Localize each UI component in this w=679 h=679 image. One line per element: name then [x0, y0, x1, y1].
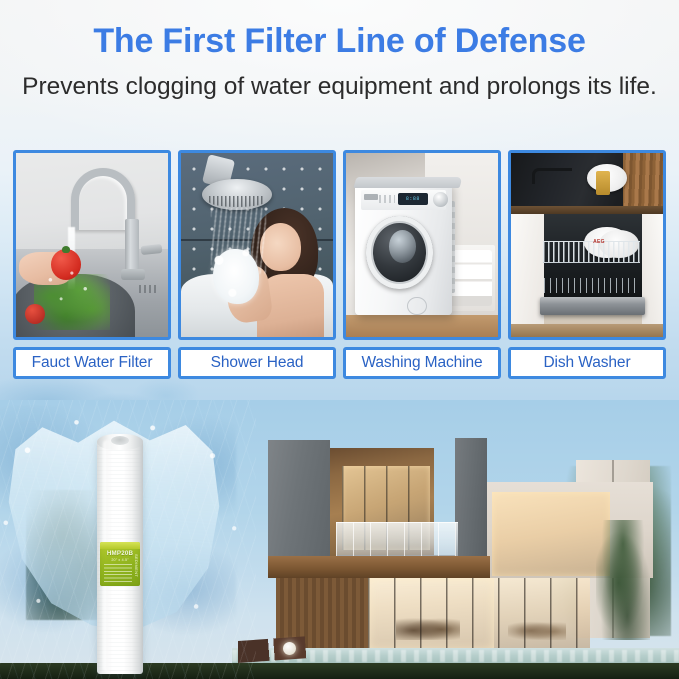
card-label-faucet: Fauct Water Filter: [13, 347, 171, 379]
page-subtitle: Prevents clogging of water equipment and…: [0, 72, 679, 102]
application-card-faucet[interactable]: Fauct Water Filter: [13, 150, 171, 386]
washing-machine-icon: 8:88: [346, 153, 498, 337]
card-label-dishwasher: Dish Washer: [508, 347, 666, 379]
application-card-dishwasher[interactable]: AEG Dish Washer: [508, 150, 666, 386]
hero-section: HMP20B 20" x 4.5" SEDIMENT: [0, 400, 679, 679]
washing-machine-photo: 8:88: [343, 150, 501, 340]
shower-photo: [178, 150, 336, 340]
application-card-washing-machine[interactable]: 8:88 Washing Machine: [343, 150, 501, 386]
dishwasher-brand-mark: AEG: [593, 239, 605, 245]
washer-display-text: 8:88: [406, 196, 420, 202]
application-card-shower[interactable]: Shower Head: [178, 150, 336, 386]
shower-head-icon: [181, 153, 333, 337]
page-title: The First Filter Line of Defense: [0, 22, 679, 61]
card-label-shower: Shower Head: [178, 347, 336, 379]
dishwasher-icon: AEG: [511, 153, 663, 337]
filter-cartridge-product: HMP20B 20" x 4.5" SEDIMENT: [97, 424, 143, 674]
faucet-photo: [13, 150, 171, 340]
cartridge-label-side-text: SEDIMENT: [134, 554, 139, 577]
product-feature-poster: The First Filter Line of Defense Prevent…: [0, 0, 679, 679]
cartridge-label: HMP20B 20" x 4.5" SEDIMENT: [100, 542, 140, 586]
application-card-row: Fauct Water Filter: [0, 150, 679, 386]
washer-display: 8:88: [398, 193, 428, 206]
dishwasher-photo: AEG: [508, 150, 666, 340]
top-section: The First Filter Line of Defense Prevent…: [0, 0, 679, 402]
card-label-washing-machine: Washing Machine: [343, 347, 501, 379]
faucet-icon: [16, 153, 168, 337]
